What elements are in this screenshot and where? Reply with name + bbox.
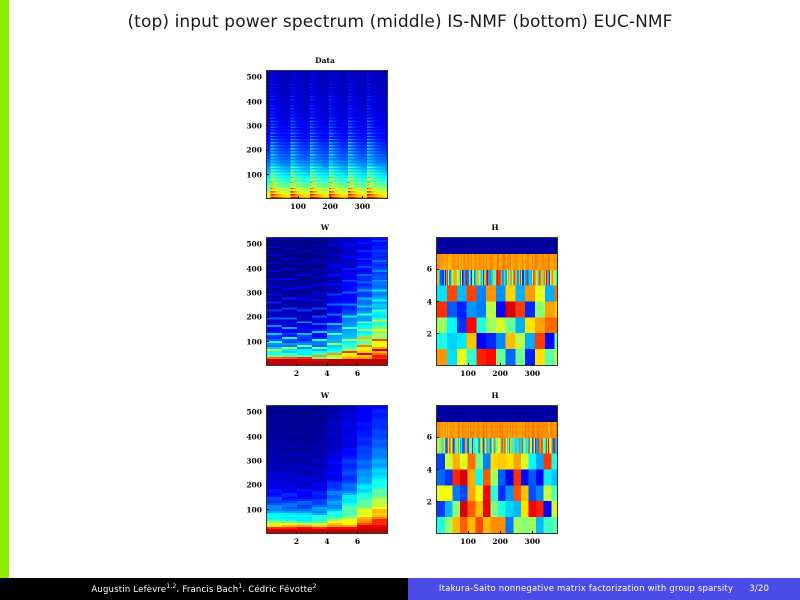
x-tick-label: 300 xyxy=(524,537,540,546)
x-tick-label: 2 xyxy=(294,537,299,546)
y-tick-label: 300 xyxy=(240,456,262,465)
author-3-name: Cédric Févotte xyxy=(248,585,312,595)
x-tick-mark xyxy=(468,363,469,366)
y-tick-mark xyxy=(266,244,269,245)
y-tick-label: 400 xyxy=(240,432,262,441)
panel-data: Data 100200300400500100200300 xyxy=(250,56,400,216)
footer-paper-info: Itakura-Saito nonnegative matrix factori… xyxy=(408,578,800,600)
x-tick-label: 100 xyxy=(290,202,306,211)
footer-page-number: 3/20 xyxy=(749,584,769,594)
x-tick-label: 300 xyxy=(524,369,540,378)
y-tick-mark xyxy=(266,77,269,78)
y-tick-mark xyxy=(266,174,269,175)
x-tick-mark xyxy=(327,363,328,366)
x-tick-label: 200 xyxy=(322,202,338,211)
y-tick-label: 200 xyxy=(240,313,262,322)
x-tick-mark xyxy=(296,363,297,366)
x-tick-mark xyxy=(500,531,501,534)
x-tick-mark xyxy=(327,531,328,534)
x-tick-mark xyxy=(330,196,331,199)
y-tick-mark xyxy=(436,469,439,470)
author-1-affiliation: 1,2 xyxy=(166,583,176,590)
panel-data-title: Data xyxy=(250,56,400,65)
x-tick-label: 4 xyxy=(324,537,329,546)
y-tick-label: 6 xyxy=(410,433,432,442)
panel-is-nmf-w: W 100200300400500246 xyxy=(250,223,400,388)
y-tick-mark xyxy=(266,341,269,342)
y-tick-mark xyxy=(266,292,269,293)
y-tick-label: 500 xyxy=(240,73,262,82)
y-tick-mark xyxy=(266,485,269,486)
x-tick-label: 100 xyxy=(460,537,476,546)
x-tick-mark xyxy=(468,531,469,534)
author-2-name: Francis Bach xyxy=(182,585,238,595)
y-tick-label: 400 xyxy=(240,97,262,106)
y-tick-label: 6 xyxy=(410,265,432,274)
x-tick-mark xyxy=(362,196,363,199)
author-3-affiliation: 2 xyxy=(313,583,317,590)
y-tick-mark xyxy=(266,460,269,461)
heatmap-data[interactable] xyxy=(266,70,388,199)
panel-is-nmf-w-title: W xyxy=(250,223,400,232)
y-tick-mark xyxy=(266,125,269,126)
x-tick-label: 200 xyxy=(492,537,508,546)
author-2: Francis Bach1 xyxy=(182,583,242,595)
author-3: Cédric Févotte2 xyxy=(248,583,316,595)
y-tick-label: 400 xyxy=(240,264,262,273)
y-tick-label: 4 xyxy=(410,465,432,474)
y-tick-mark xyxy=(436,301,439,302)
y-tick-label: 2 xyxy=(410,497,432,506)
heatmap-is-nmf-w[interactable] xyxy=(266,237,388,366)
y-tick-mark xyxy=(266,150,269,151)
y-tick-mark xyxy=(436,333,439,334)
y-tick-label: 500 xyxy=(240,408,262,417)
y-tick-label: 100 xyxy=(240,505,262,514)
x-tick-label: 2 xyxy=(294,369,299,378)
x-tick-label: 300 xyxy=(354,202,370,211)
page-title: (top) input power spectrum (middle) IS-N… xyxy=(0,12,800,32)
heatmap-euc-nmf-h[interactable] xyxy=(436,405,558,534)
panel-euc-nmf-h: H 246100200300 xyxy=(420,391,570,556)
y-tick-label: 4 xyxy=(410,297,432,306)
heatmap-euc-nmf-w[interactable] xyxy=(266,405,388,534)
y-tick-mark xyxy=(436,437,439,438)
footer-paper-title: Itakura-Saito nonnegative matrix factori… xyxy=(439,584,733,594)
y-tick-label: 300 xyxy=(240,121,262,130)
y-tick-mark xyxy=(436,269,439,270)
author-1-name: Augustin Lefèvre xyxy=(91,585,166,595)
y-tick-mark xyxy=(436,501,439,502)
y-tick-label: 100 xyxy=(240,170,262,179)
y-tick-mark xyxy=(266,509,269,510)
x-tick-label: 100 xyxy=(460,369,476,378)
panel-euc-nmf-h-title: H xyxy=(420,391,570,400)
x-tick-mark xyxy=(500,363,501,366)
x-tick-label: 6 xyxy=(355,369,360,378)
panel-is-nmf-h-title: H xyxy=(420,223,570,232)
panel-is-nmf-h: H 246100200300 xyxy=(420,223,570,388)
y-tick-mark xyxy=(266,268,269,269)
y-tick-mark xyxy=(266,436,269,437)
panel-euc-nmf-w: W 100200300400500246 xyxy=(250,391,400,556)
y-tick-label: 100 xyxy=(240,337,262,346)
author-1: Augustin Lefèvre1,2 xyxy=(91,583,176,595)
y-tick-mark xyxy=(266,317,269,318)
y-tick-label: 2 xyxy=(410,329,432,338)
panel-euc-nmf-w-title: W xyxy=(250,391,400,400)
x-tick-label: 4 xyxy=(324,369,329,378)
footer-authors: Augustin Lefèvre1,2, Francis Bach1, Cédr… xyxy=(0,578,408,600)
x-tick-mark xyxy=(296,531,297,534)
y-tick-label: 200 xyxy=(240,481,262,490)
y-tick-mark xyxy=(266,412,269,413)
y-tick-mark xyxy=(266,101,269,102)
x-tick-mark xyxy=(357,531,358,534)
heatmap-is-nmf-h[interactable] xyxy=(436,237,558,366)
x-tick-label: 200 xyxy=(492,369,508,378)
x-tick-label: 6 xyxy=(355,537,360,546)
x-tick-mark xyxy=(298,196,299,199)
slide-footer: Augustin Lefèvre1,2, Francis Bach1, Cédr… xyxy=(0,578,800,600)
y-tick-label: 300 xyxy=(240,288,262,297)
x-tick-mark xyxy=(532,531,533,534)
y-tick-label: 200 xyxy=(240,146,262,155)
x-tick-mark xyxy=(357,363,358,366)
x-tick-mark xyxy=(532,363,533,366)
y-tick-label: 500 xyxy=(240,240,262,249)
figure-container: Data 100200300400500100200300 W 10020030… xyxy=(0,48,800,568)
